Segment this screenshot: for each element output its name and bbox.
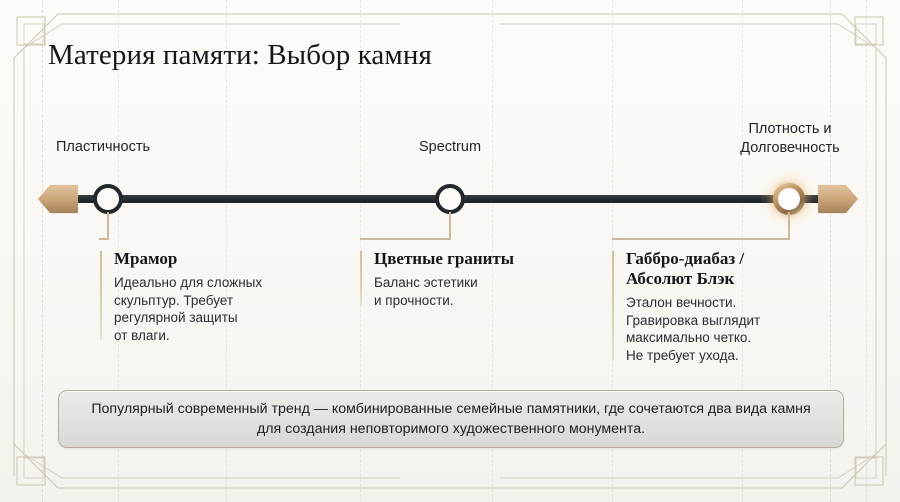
guide-line bbox=[42, 0, 43, 502]
item-accent-bar bbox=[612, 251, 614, 360]
timeline-marker-gabbro[interactable] bbox=[770, 180, 808, 218]
item-heading: Мрамор bbox=[114, 249, 324, 269]
marker-glow-icon bbox=[761, 171, 817, 227]
page-title: Материя памяти: Выбор камня bbox=[48, 38, 432, 72]
item-body: Баланс эстетики и прочности. bbox=[374, 274, 604, 309]
item-body: Идеально для сложных скульптур. Требует … bbox=[114, 274, 324, 344]
item-marble: Мрамор Идеально для сложных скульптур. Т… bbox=[100, 249, 324, 344]
axis-label-right: Плотность и Долговечность bbox=[700, 120, 880, 158]
item-heading: Габбро-диабаз / Абсолют Блэк bbox=[626, 249, 836, 289]
slide-canvas: Материя памяти: Выбор камня bbox=[0, 0, 900, 502]
timeline-axis bbox=[78, 195, 822, 203]
marker-ring-active-icon bbox=[773, 183, 805, 215]
guide-line bbox=[866, 0, 867, 502]
timeline-marker-granite[interactable] bbox=[431, 180, 469, 218]
item-accent-bar bbox=[100, 251, 102, 340]
marker-ring-icon bbox=[435, 184, 465, 214]
item-colored-granite: Цветные граниты Баланс эстетики и прочно… bbox=[360, 249, 604, 309]
item-body: Эталон вечности. Гравировка выглядит мак… bbox=[626, 294, 836, 364]
trend-banner-text: Популярный современный тренд — комбиниро… bbox=[80, 399, 822, 439]
item-accent-bar bbox=[360, 251, 362, 305]
item-gabbro-diabase: Габбро-диабаз / Абсолют Блэк Эталон вечн… bbox=[612, 249, 836, 364]
axis-label-left: Пластичность bbox=[28, 138, 236, 157]
axis-label-middle: Spectrum bbox=[370, 138, 530, 157]
item-heading: Цветные граниты bbox=[374, 249, 604, 269]
marker-ring-icon bbox=[93, 184, 123, 214]
timeline-marker-marble[interactable] bbox=[89, 180, 127, 218]
trend-banner: Популярный современный тренд — комбиниро… bbox=[58, 390, 844, 448]
